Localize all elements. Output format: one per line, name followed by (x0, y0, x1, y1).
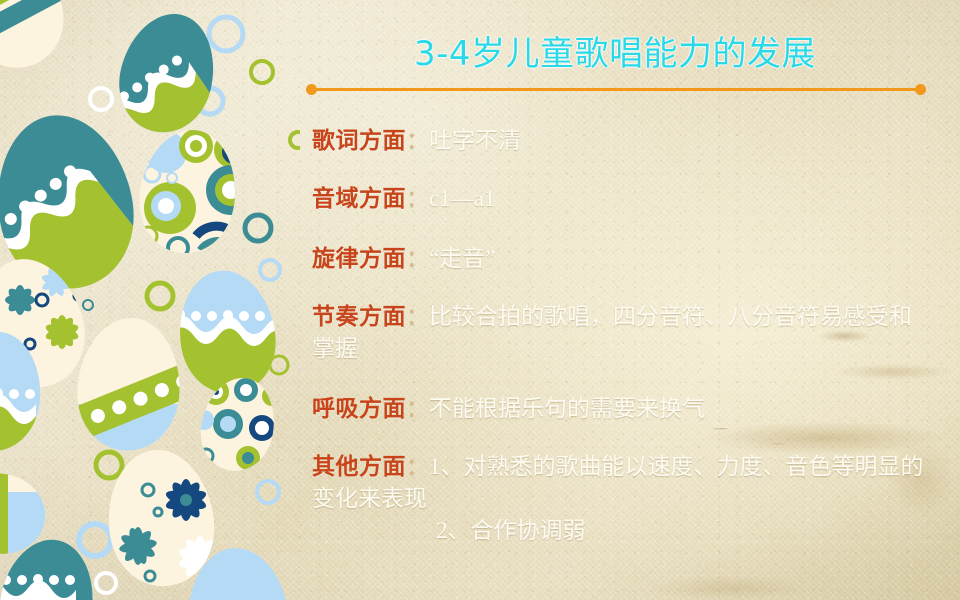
item-label: 呼吸方面 (312, 396, 406, 421)
easter-egg-decoration (0, 0, 300, 600)
item-text: 吐字不清 (429, 128, 521, 153)
content-line: 节奏方面：比较合拍的歌唱，四分音符、八分音符易感受和掌握 (312, 301, 924, 365)
rule-bar (310, 88, 922, 91)
item-text: “走音” (429, 246, 495, 271)
content-line: 音域方面：c1—a1 (312, 183, 924, 215)
list-item: 其他方面：1、对熟悉的歌曲能以速度、力度、音色等明显的变化来表现 2、合作协调弱 (312, 451, 924, 547)
content-list: 歌词方面：吐字不清 音域方面：c1—a1 旋律方面：“走音” 节奏方面：比较合拍… (312, 125, 924, 549)
item-text: 不能根据乐句的需要来换气 (429, 396, 705, 421)
page-title: 3-4岁儿童歌唱能力的发展 (300, 34, 930, 74)
item-label: 节奏方面 (312, 304, 406, 329)
rule-dot-right (915, 84, 926, 95)
item-colon: ： (406, 128, 429, 153)
list-item: 旋律方面：“走音” (312, 243, 924, 275)
item-colon: ： (406, 304, 429, 329)
content-line-secondary: 2、合作协调弱 (312, 515, 924, 547)
item-text-secondary: 2、合作协调弱 (436, 518, 586, 543)
content-line: 呼吸方面：不能根据乐句的需要来换气 (312, 393, 924, 425)
item-colon: ： (406, 186, 429, 211)
title-underline-rule (300, 83, 930, 95)
content-line: 其他方面：1、对熟悉的歌曲能以速度、力度、音色等明显的变化来表现 (312, 451, 924, 515)
item-label: 旋律方面 (312, 246, 406, 271)
list-item: 音域方面：c1—a1 (312, 183, 924, 215)
title-block: 3-4岁儿童歌唱能力的发展 (300, 34, 930, 95)
content-line: 旋律方面：“走音” (312, 243, 924, 275)
list-item: 节奏方面：比较合拍的歌唱，四分音符、八分音符易感受和掌握 (312, 301, 924, 365)
list-item: 歌词方面：吐字不清 (312, 125, 924, 157)
item-colon: ： (406, 454, 429, 479)
item-label: 其他方面 (312, 454, 406, 479)
item-label: 歌词方面 (312, 128, 406, 153)
item-colon: ： (406, 396, 429, 421)
slide-canvas: 3-4岁儿童歌唱能力的发展 歌词方面：吐字不清 音域方面：c1—a1 旋律方面：… (0, 0, 960, 600)
content-line: 歌词方面：吐字不清 (312, 125, 924, 157)
item-text: c1—a1 (429, 186, 495, 211)
list-item: 呼吸方面：不能根据乐句的需要来换气 (312, 393, 924, 425)
item-colon: ： (406, 246, 429, 271)
item-label: 音域方面 (312, 186, 406, 211)
